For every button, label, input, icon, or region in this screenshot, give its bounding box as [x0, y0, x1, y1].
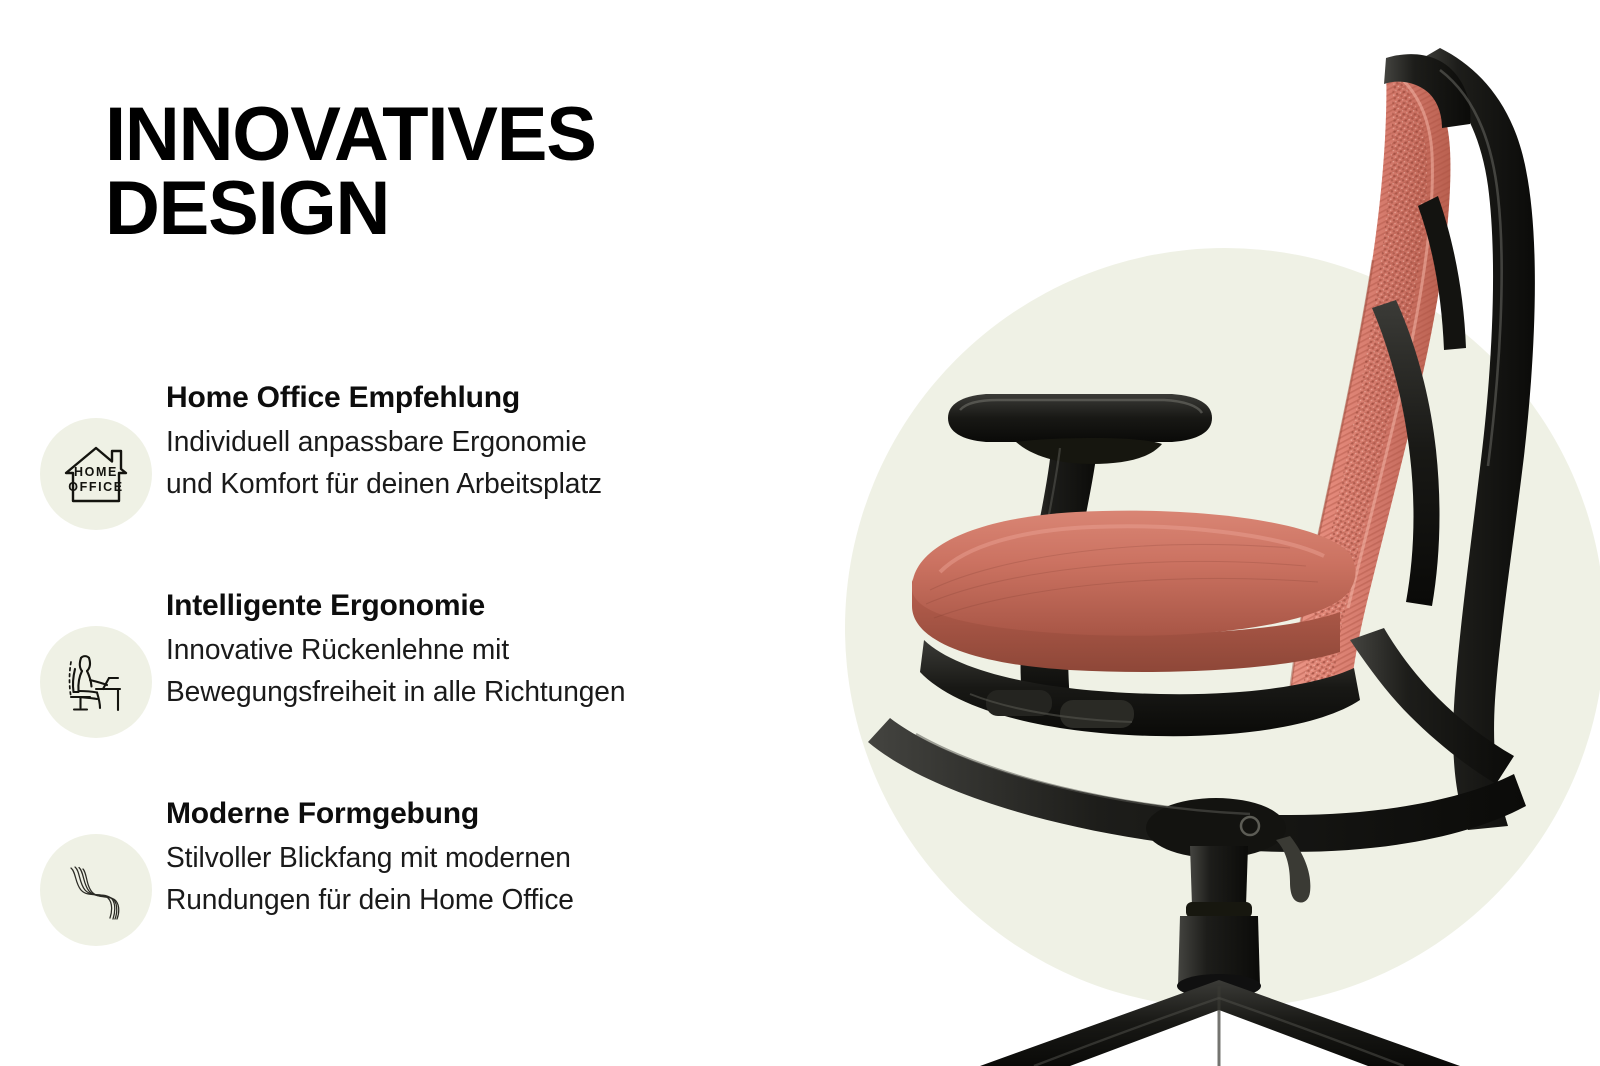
feature-description: Innovative Rückenlehne mit Bewegungsfrei… [166, 629, 781, 714]
feature-title: Home Office Empfehlung [166, 380, 800, 417]
home-office-house-icon: HOME OFFICE [40, 418, 152, 530]
flowing-curves-icon [40, 834, 152, 946]
feature-icon-container [40, 626, 152, 738]
feature-text-block: Home Office Empfehlung Individuell anpas… [152, 378, 800, 505]
feature-list: HOME OFFICE Home Office Empfehlung Indiv… [40, 378, 800, 946]
feature-text-block: Intelligente Ergonomie Innovative Rücken… [152, 586, 800, 713]
feature-item-design: Moderne Formgebung Stilvoller Blickfang … [40, 794, 800, 946]
feature-description: Individuell anpassbare Ergonomie und Kom… [166, 421, 781, 506]
svg-text:OFFICE: OFFICE [68, 480, 123, 494]
content-column: INNOVATIVES DESIGN HOME OFFICE Home Offi… [0, 0, 830, 1066]
feature-title: Moderne Formgebung [166, 796, 800, 833]
chair-base [980, 846, 1460, 1066]
feature-text-block: Moderne Formgebung Stilvoller Blickfang … [152, 794, 800, 921]
page-title: INNOVATIVES DESIGN [105, 98, 805, 247]
product-image-column [820, 0, 1600, 1066]
person-sitting-at-desk-icon [40, 626, 152, 738]
feature-title: Intelligente Ergonomie [166, 588, 800, 625]
office-chair-side-view [820, 0, 1600, 1066]
feature-icon-container [40, 834, 152, 946]
feature-item-ergonomics: Intelligente Ergonomie Innovative Rücken… [40, 586, 800, 738]
product-feature-banner: INNOVATIVES DESIGN HOME OFFICE Home Offi… [0, 0, 1600, 1066]
feature-icon-container: HOME OFFICE [40, 418, 152, 530]
svg-text:HOME: HOME [74, 465, 118, 479]
feature-description: Stilvoller Blickfang mit modernen Rundun… [166, 837, 781, 922]
feature-item-home-office: HOME OFFICE Home Office Empfehlung Indiv… [40, 378, 800, 530]
chair-seat [912, 511, 1356, 672]
